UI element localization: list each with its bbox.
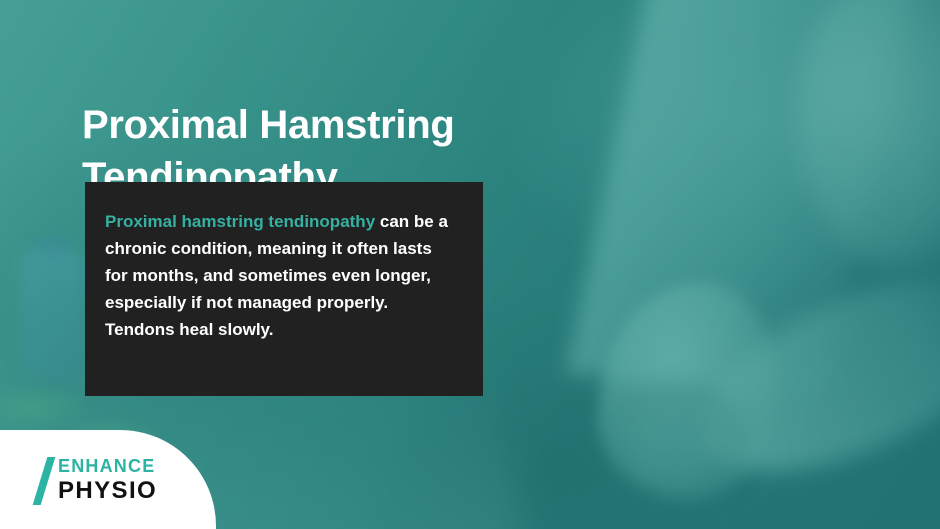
- logo-line-physio: PHYSIO: [58, 477, 157, 505]
- slide-canvas: Proximal Hamstring Tendinopathy Proximal…: [0, 0, 940, 529]
- logo-line-enhance: ENHANCE: [58, 455, 155, 477]
- callout-paragraph: Proximal hamstring tendinopathy can be a…: [105, 208, 457, 343]
- brand-logo[interactable]: ENHANCE PHYSIO: [40, 455, 200, 507]
- callout-body-text: can be a chronic condition, meaning it o…: [105, 212, 448, 339]
- callout-card: Proximal hamstring tendinopathy can be a…: [85, 182, 483, 396]
- callout-highlight-phrase: Proximal hamstring tendinopathy: [105, 212, 375, 231]
